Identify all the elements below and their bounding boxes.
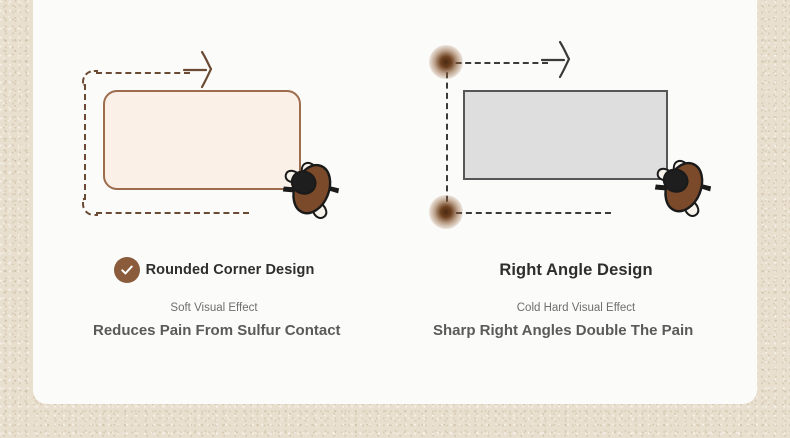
guide-line-left bbox=[446, 62, 448, 212]
comparison-columns: Rounded Corner Design Soft Visual Effect… bbox=[33, 0, 757, 438]
guide-corner-top-left bbox=[82, 70, 98, 86]
pain-point-icon bbox=[429, 45, 463, 79]
right-angle-title-row: Right Angle Design bbox=[395, 255, 757, 285]
cockroach-icon bbox=[648, 148, 720, 220]
right-angle-description: Sharp Right Angles Double The Pain bbox=[395, 323, 757, 340]
rounded-corner-subtitle: Soft Visual Effect bbox=[33, 302, 395, 314]
rounded-corner-title: Rounded Corner Design bbox=[146, 262, 315, 278]
right-angle-caption: Right Angle Design Cold Hard Visual Effe… bbox=[395, 255, 757, 340]
rounded-corner-caption: Rounded Corner Design Soft Visual Effect… bbox=[33, 255, 395, 340]
check-icon bbox=[114, 257, 140, 283]
rounded-corner-title-row: Rounded Corner Design bbox=[33, 255, 395, 285]
right-angle-rectangle-shape bbox=[463, 90, 668, 180]
right-angle-diagram bbox=[395, 40, 757, 255]
right-angle-subtitle: Cold Hard Visual Effect bbox=[395, 302, 757, 314]
guide-line-bottom bbox=[446, 212, 611, 214]
guide-corner-bottom-left bbox=[82, 198, 98, 216]
rounded-corner-diagram bbox=[33, 40, 395, 255]
curved-arrow-icon bbox=[539, 38, 583, 82]
column-rounded-corner: Rounded Corner Design Soft Visual Effect… bbox=[33, 0, 395, 438]
curved-arrow-icon bbox=[181, 48, 225, 92]
pain-point-icon bbox=[429, 195, 463, 229]
cockroach-icon bbox=[276, 150, 348, 222]
rounded-rectangle-shape bbox=[103, 90, 301, 190]
rounded-corner-description: Reduces Pain From Sulfur Contact bbox=[33, 323, 395, 340]
guide-line-left bbox=[84, 84, 86, 200]
right-angle-title: Right Angle Design bbox=[499, 261, 652, 280]
guide-line-bottom bbox=[96, 212, 249, 214]
guide-line-top bbox=[96, 72, 190, 74]
column-right-angle: Right Angle Design Cold Hard Visual Effe… bbox=[395, 0, 757, 438]
